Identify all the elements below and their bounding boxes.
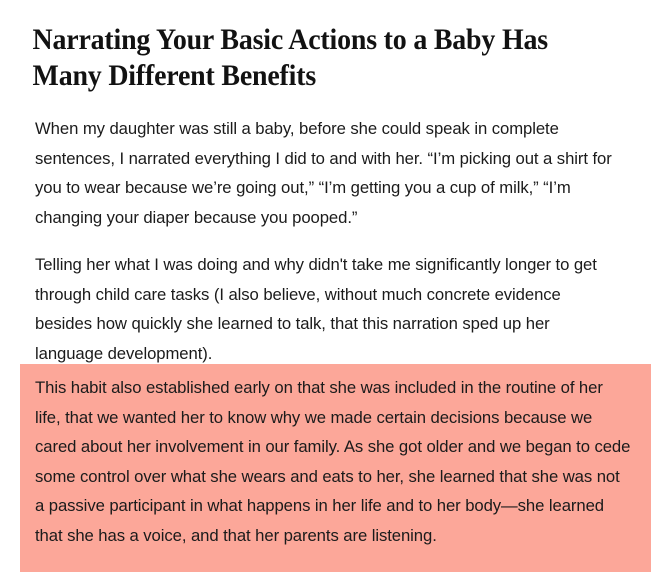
paragraph-1: When my daughter was still a baby, befor… — [35, 114, 616, 232]
article-body: When my daughter was still a baby, befor… — [0, 114, 651, 368]
page-title: Narrating Your Basic Actions to a Baby H… — [0, 0, 605, 94]
paragraph-3-highlighted: This habit also established early on tha… — [35, 373, 631, 550]
article-container: Narrating Your Basic Actions to a Baby H… — [0, 0, 651, 585]
paragraph-2: Telling her what I was doing and why did… — [35, 250, 616, 368]
highlighted-passage[interactable]: This habit also established early on tha… — [20, 364, 651, 572]
